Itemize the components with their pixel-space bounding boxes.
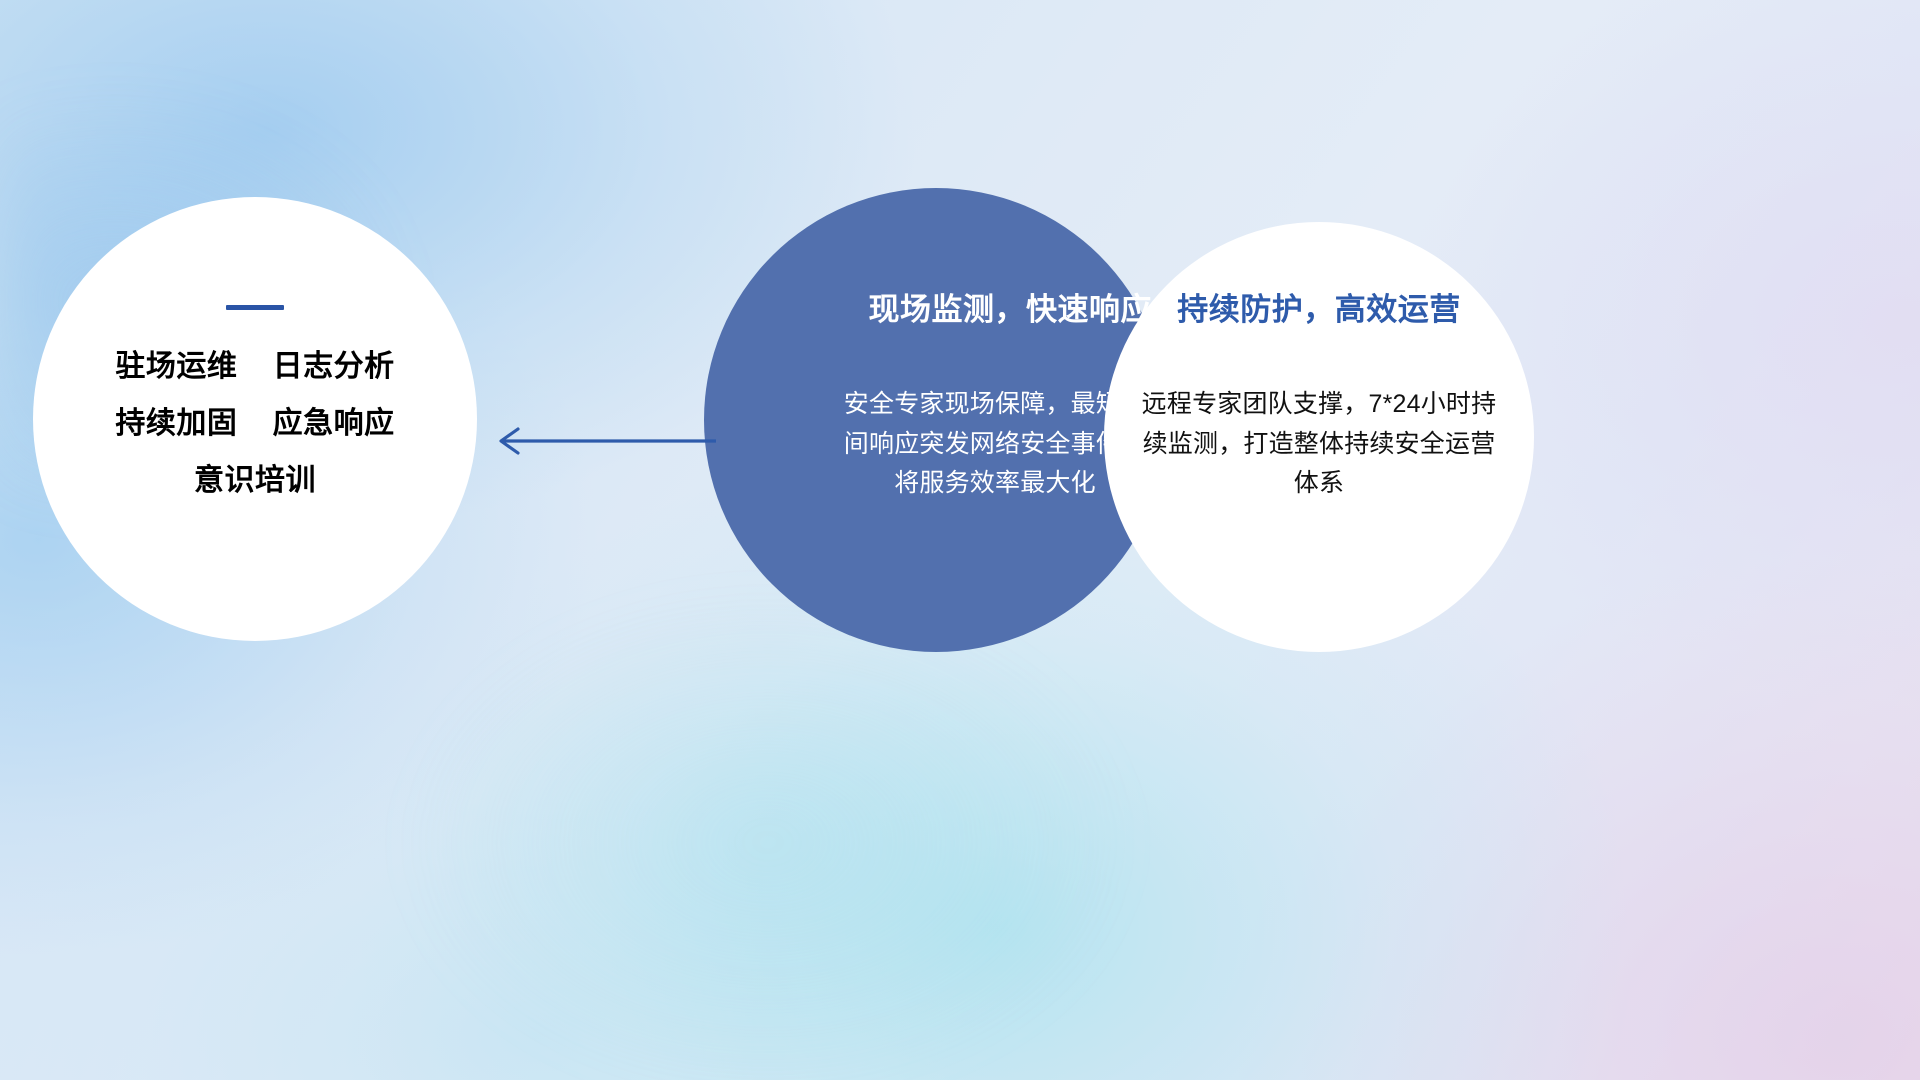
center-circle-content: 现场监测，快速响应 安全专家现场保障，最短时间响应突发网络安全事件，将服务效率最… [704,188,1168,652]
left-circle-divider [226,305,284,310]
left-circle-line-2: 持续加固 应急响应 [115,409,394,439]
left-circle-content: 驻场运维 日志分析 持续加固 应急响应 意识培训 [33,197,477,641]
right-circle-body: 远程专家团队支撑，7*24小时持续监测，打造整体持续安全运营体系 [1136,385,1502,504]
left-circle-line-1: 驻场运维 日志分析 [115,352,394,382]
left-arrow-icon [488,416,718,466]
right-circle-title: 持续防护，高效运营 [1177,293,1461,327]
right-circle-content: 持续防护，高效运营 远程专家团队支撑，7*24小时持续监测，打造整体持续安全运营… [1104,222,1534,652]
left-circle-line-3: 意识培训 [194,466,316,496]
